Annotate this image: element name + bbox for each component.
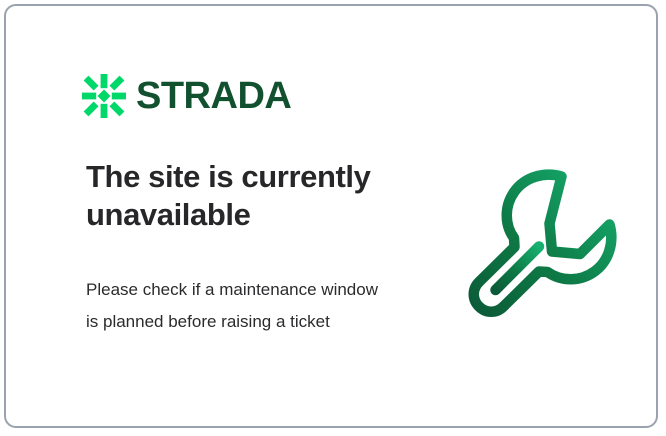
page-title: The site is currently unavailable — [86, 158, 416, 234]
strada-asterisk-icon — [82, 74, 126, 118]
brand-logo: STRADA — [82, 74, 291, 118]
wrench-icon — [458, 158, 626, 320]
page-description: Please check if a maintenance window is … — [86, 274, 386, 338]
brand-name: STRADA — [136, 77, 291, 115]
status-card: STRADA The site is currently unavailable… — [4, 4, 658, 428]
